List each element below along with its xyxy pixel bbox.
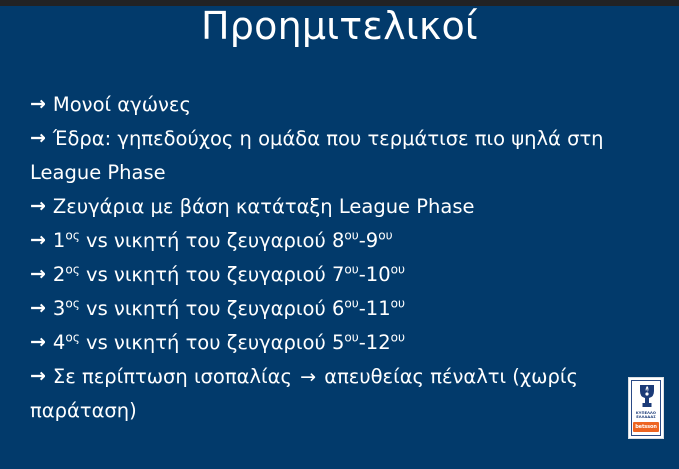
pair-middle-text: vs νικητή του ζευγαριού: [80, 331, 332, 354]
bullet-pair-3: →3ος vs νικητή του ζευγαριού 6ου-11ου: [30, 292, 630, 326]
pair-middle-text: vs νικητή του ζευγαριού: [80, 229, 332, 252]
bullet-home-ground: →Έδρα: γηπεδούχος η ομάδα που τερμάτισε …: [30, 122, 630, 190]
seed-rank-suffix: ος: [65, 297, 79, 311]
seed-rank: 2: [53, 263, 65, 286]
bullet-single-matches: →Μονοί αγώνες: [30, 88, 630, 122]
seed-b: 11: [366, 297, 391, 320]
bullet-label: Έδρα: γηπεδούχος η ομάδα που τερμάτισε π…: [30, 127, 604, 184]
bullet-penalties: →Σε περίπτωση ισοπαλίας → απευθείας πένα…: [30, 360, 630, 428]
inline-arrow-icon: →: [298, 360, 318, 394]
seed-a-suffix: ου: [344, 297, 358, 311]
seed-rank-suffix: ος: [65, 263, 79, 277]
arrow-icon: →: [30, 223, 46, 257]
arrow-icon: →: [30, 325, 46, 359]
arrow-icon: →: [30, 189, 46, 223]
seed-dash: -: [359, 297, 366, 320]
pair-middle-text: vs νικητή του ζευγαριού: [80, 297, 332, 320]
seed-rank: 3: [53, 297, 65, 320]
seed-b-suffix: ου: [391, 263, 405, 277]
seed-a: 5: [332, 331, 344, 354]
seed-dash: -: [359, 229, 366, 252]
presentation-slide: Προημιτελικοί →Μονοί αγώνες →Έδρα: γηπεδ…: [0, 0, 679, 469]
bullet-list: →Μονοί αγώνες →Έδρα: γηπεδούχος η ομάδα …: [30, 88, 630, 428]
seed-dash: -: [359, 263, 366, 286]
seed-a: 6: [332, 297, 344, 320]
bullet-label: Μονοί αγώνες: [53, 93, 191, 116]
arrow-icon: →: [30, 121, 46, 155]
penalties-text-before: Σε περίπτωση ισοπαλίας: [53, 365, 298, 388]
seed-a-suffix: ου: [344, 331, 358, 345]
arrow-icon: →: [30, 257, 46, 291]
seed-b-suffix: ου: [391, 331, 405, 345]
seed-dash: -: [359, 331, 366, 354]
trophy-icon: [637, 383, 657, 411]
pair-middle-text: vs νικητή του ζευγαριού: [80, 263, 332, 286]
seed-b-suffix: ου: [391, 297, 405, 311]
seed-a: 8: [332, 229, 344, 252]
seed-rank: 1: [53, 229, 65, 252]
logo-frame: ΚΥΠΕΛΛΟ ΕΛΛΑΔΑΣ betsson: [631, 380, 661, 436]
seed-a: 7: [332, 263, 344, 286]
seed-b: 12: [366, 331, 391, 354]
seed-b: 10: [366, 263, 391, 286]
logo-title-line-2: ΕΛΛΑΔΑΣ: [633, 415, 659, 419]
page-title: Προημιτελικοί: [0, 3, 679, 49]
seed-b-suffix: ου: [378, 229, 392, 243]
bullet-pair-1: →1ος vs νικητή του ζευγαριού 8ου-9ου: [30, 224, 630, 258]
arrow-icon: →: [30, 291, 46, 325]
greek-cup-betsson-logo: ΚΥΠΕΛΛΟ ΕΛΛΑΔΑΣ betsson: [628, 377, 664, 439]
seed-rank: 4: [53, 331, 65, 354]
arrow-icon: →: [30, 87, 46, 121]
bullet-pair-4: →4ος vs νικητή του ζευγαριού 5ου-12ου: [30, 326, 630, 360]
arrow-icon: →: [30, 359, 46, 393]
sponsor-badge: betsson: [633, 422, 659, 432]
logo-title: ΚΥΠΕΛΛΟ ΕΛΛΑΔΑΣ: [633, 411, 659, 420]
seed-a-suffix: ου: [344, 229, 358, 243]
seed-b: 9: [366, 229, 378, 252]
seed-a-suffix: ου: [344, 263, 358, 277]
seed-rank-suffix: ος: [65, 331, 79, 345]
bullet-label: Ζευγάρια με βάση κατάταξη League Phase: [53, 195, 475, 218]
bullet-pair-2: →2ος vs νικητή του ζευγαριού 7ου-10ου: [30, 258, 630, 292]
seed-rank-suffix: ος: [65, 229, 79, 243]
bullet-pairings-basis: →Ζευγάρια με βάση κατάταξη League Phase: [30, 190, 630, 224]
